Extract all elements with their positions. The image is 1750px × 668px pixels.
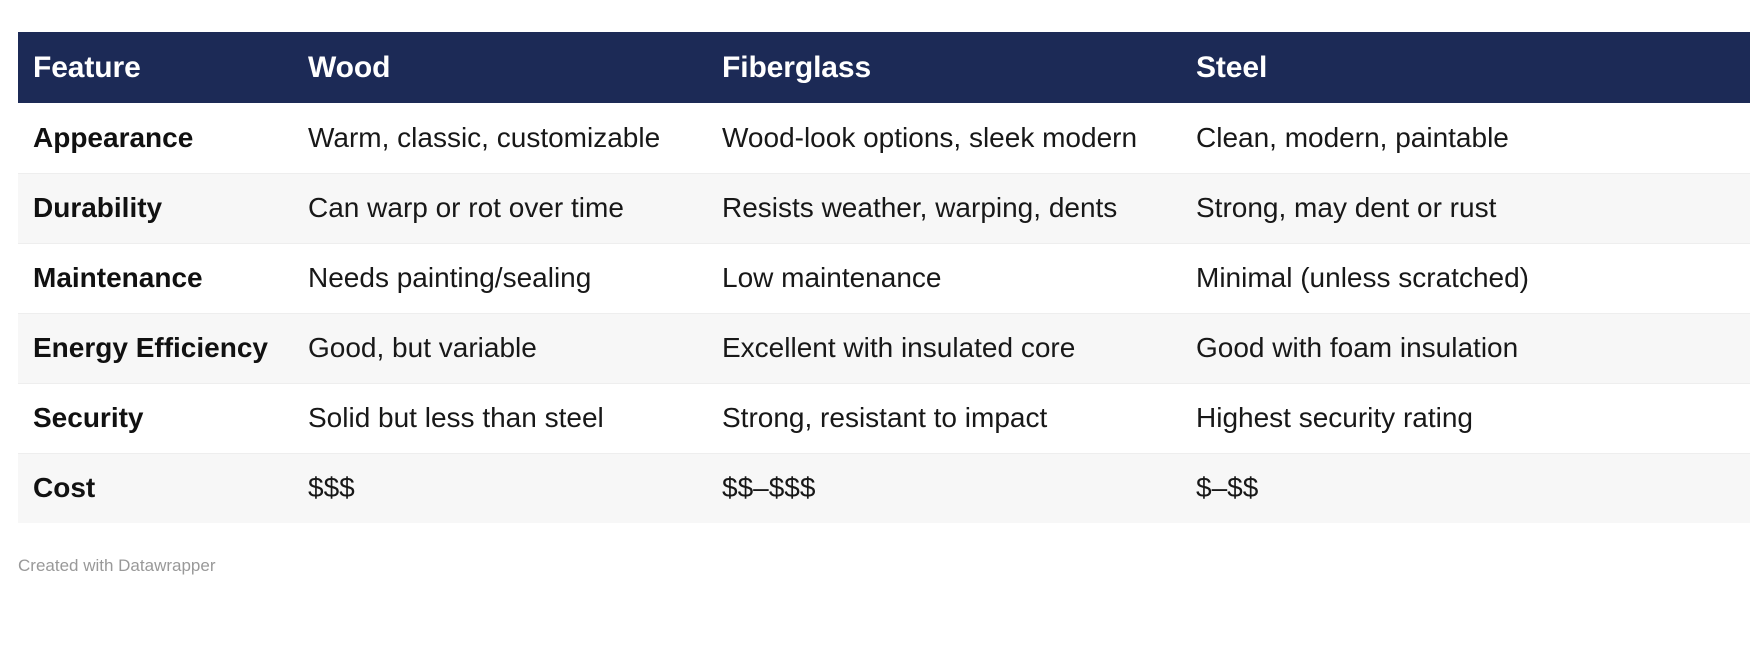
cell-steel: Clean, modern, paintable [1181,103,1750,173]
cell-steel: Good with foam insulation [1181,313,1750,383]
cell-wood: $$$ [293,453,707,523]
cell-feature: Energy Efficiency [18,313,293,383]
table-row: Maintenance Needs painting/sealing Low m… [18,243,1750,313]
comparison-table: Feature Wood Fiberglass Steel Appearance… [18,32,1750,523]
cell-steel: Minimal (unless scratched) [1181,243,1750,313]
table-row: Cost $$$ $$–$$$ $–$$ [18,453,1750,523]
table-row: Durability Can warp or rot over time Res… [18,173,1750,243]
cell-wood: Warm, classic, customizable [293,103,707,173]
cell-fiberglass: Resists weather, warping, dents [707,173,1181,243]
table-body: Appearance Warm, classic, customizable W… [18,103,1750,523]
cell-wood: Good, but variable [293,313,707,383]
table-row: Security Solid but less than steel Stron… [18,383,1750,453]
cell-wood: Needs painting/sealing [293,243,707,313]
table-header: Feature Wood Fiberglass Steel [18,32,1750,103]
cell-fiberglass: Low maintenance [707,243,1181,313]
table-header-row: Feature Wood Fiberglass Steel [18,32,1750,103]
cell-fiberglass: Wood-look options, sleek modern [707,103,1181,173]
column-header-fiberglass[interactable]: Fiberglass [707,32,1181,103]
cell-feature: Maintenance [18,243,293,313]
datawrapper-credit[interactable]: Created with Datawrapper [18,556,215,576]
comparison-table-container: Feature Wood Fiberglass Steel Appearance… [18,32,1750,523]
cell-feature: Cost [18,453,293,523]
cell-fiberglass: Strong, resistant to impact [707,383,1181,453]
column-header-steel[interactable]: Steel [1181,32,1750,103]
cell-feature: Security [18,383,293,453]
table-row: Appearance Warm, classic, customizable W… [18,103,1750,173]
datawrapper-table-chart: Feature Wood Fiberglass Steel Appearance… [0,0,1750,668]
cell-fiberglass: $$–$$$ [707,453,1181,523]
cell-wood: Solid but less than steel [293,383,707,453]
cell-wood: Can warp or rot over time [293,173,707,243]
cell-feature: Appearance [18,103,293,173]
cell-fiberglass: Excellent with insulated core [707,313,1181,383]
cell-feature: Durability [18,173,293,243]
table-row: Energy Efficiency Good, but variable Exc… [18,313,1750,383]
cell-steel: $–$$ [1181,453,1750,523]
cell-steel: Strong, may dent or rust [1181,173,1750,243]
column-header-wood[interactable]: Wood [293,32,707,103]
column-header-feature[interactable]: Feature [18,32,293,103]
cell-steel: Highest security rating [1181,383,1750,453]
